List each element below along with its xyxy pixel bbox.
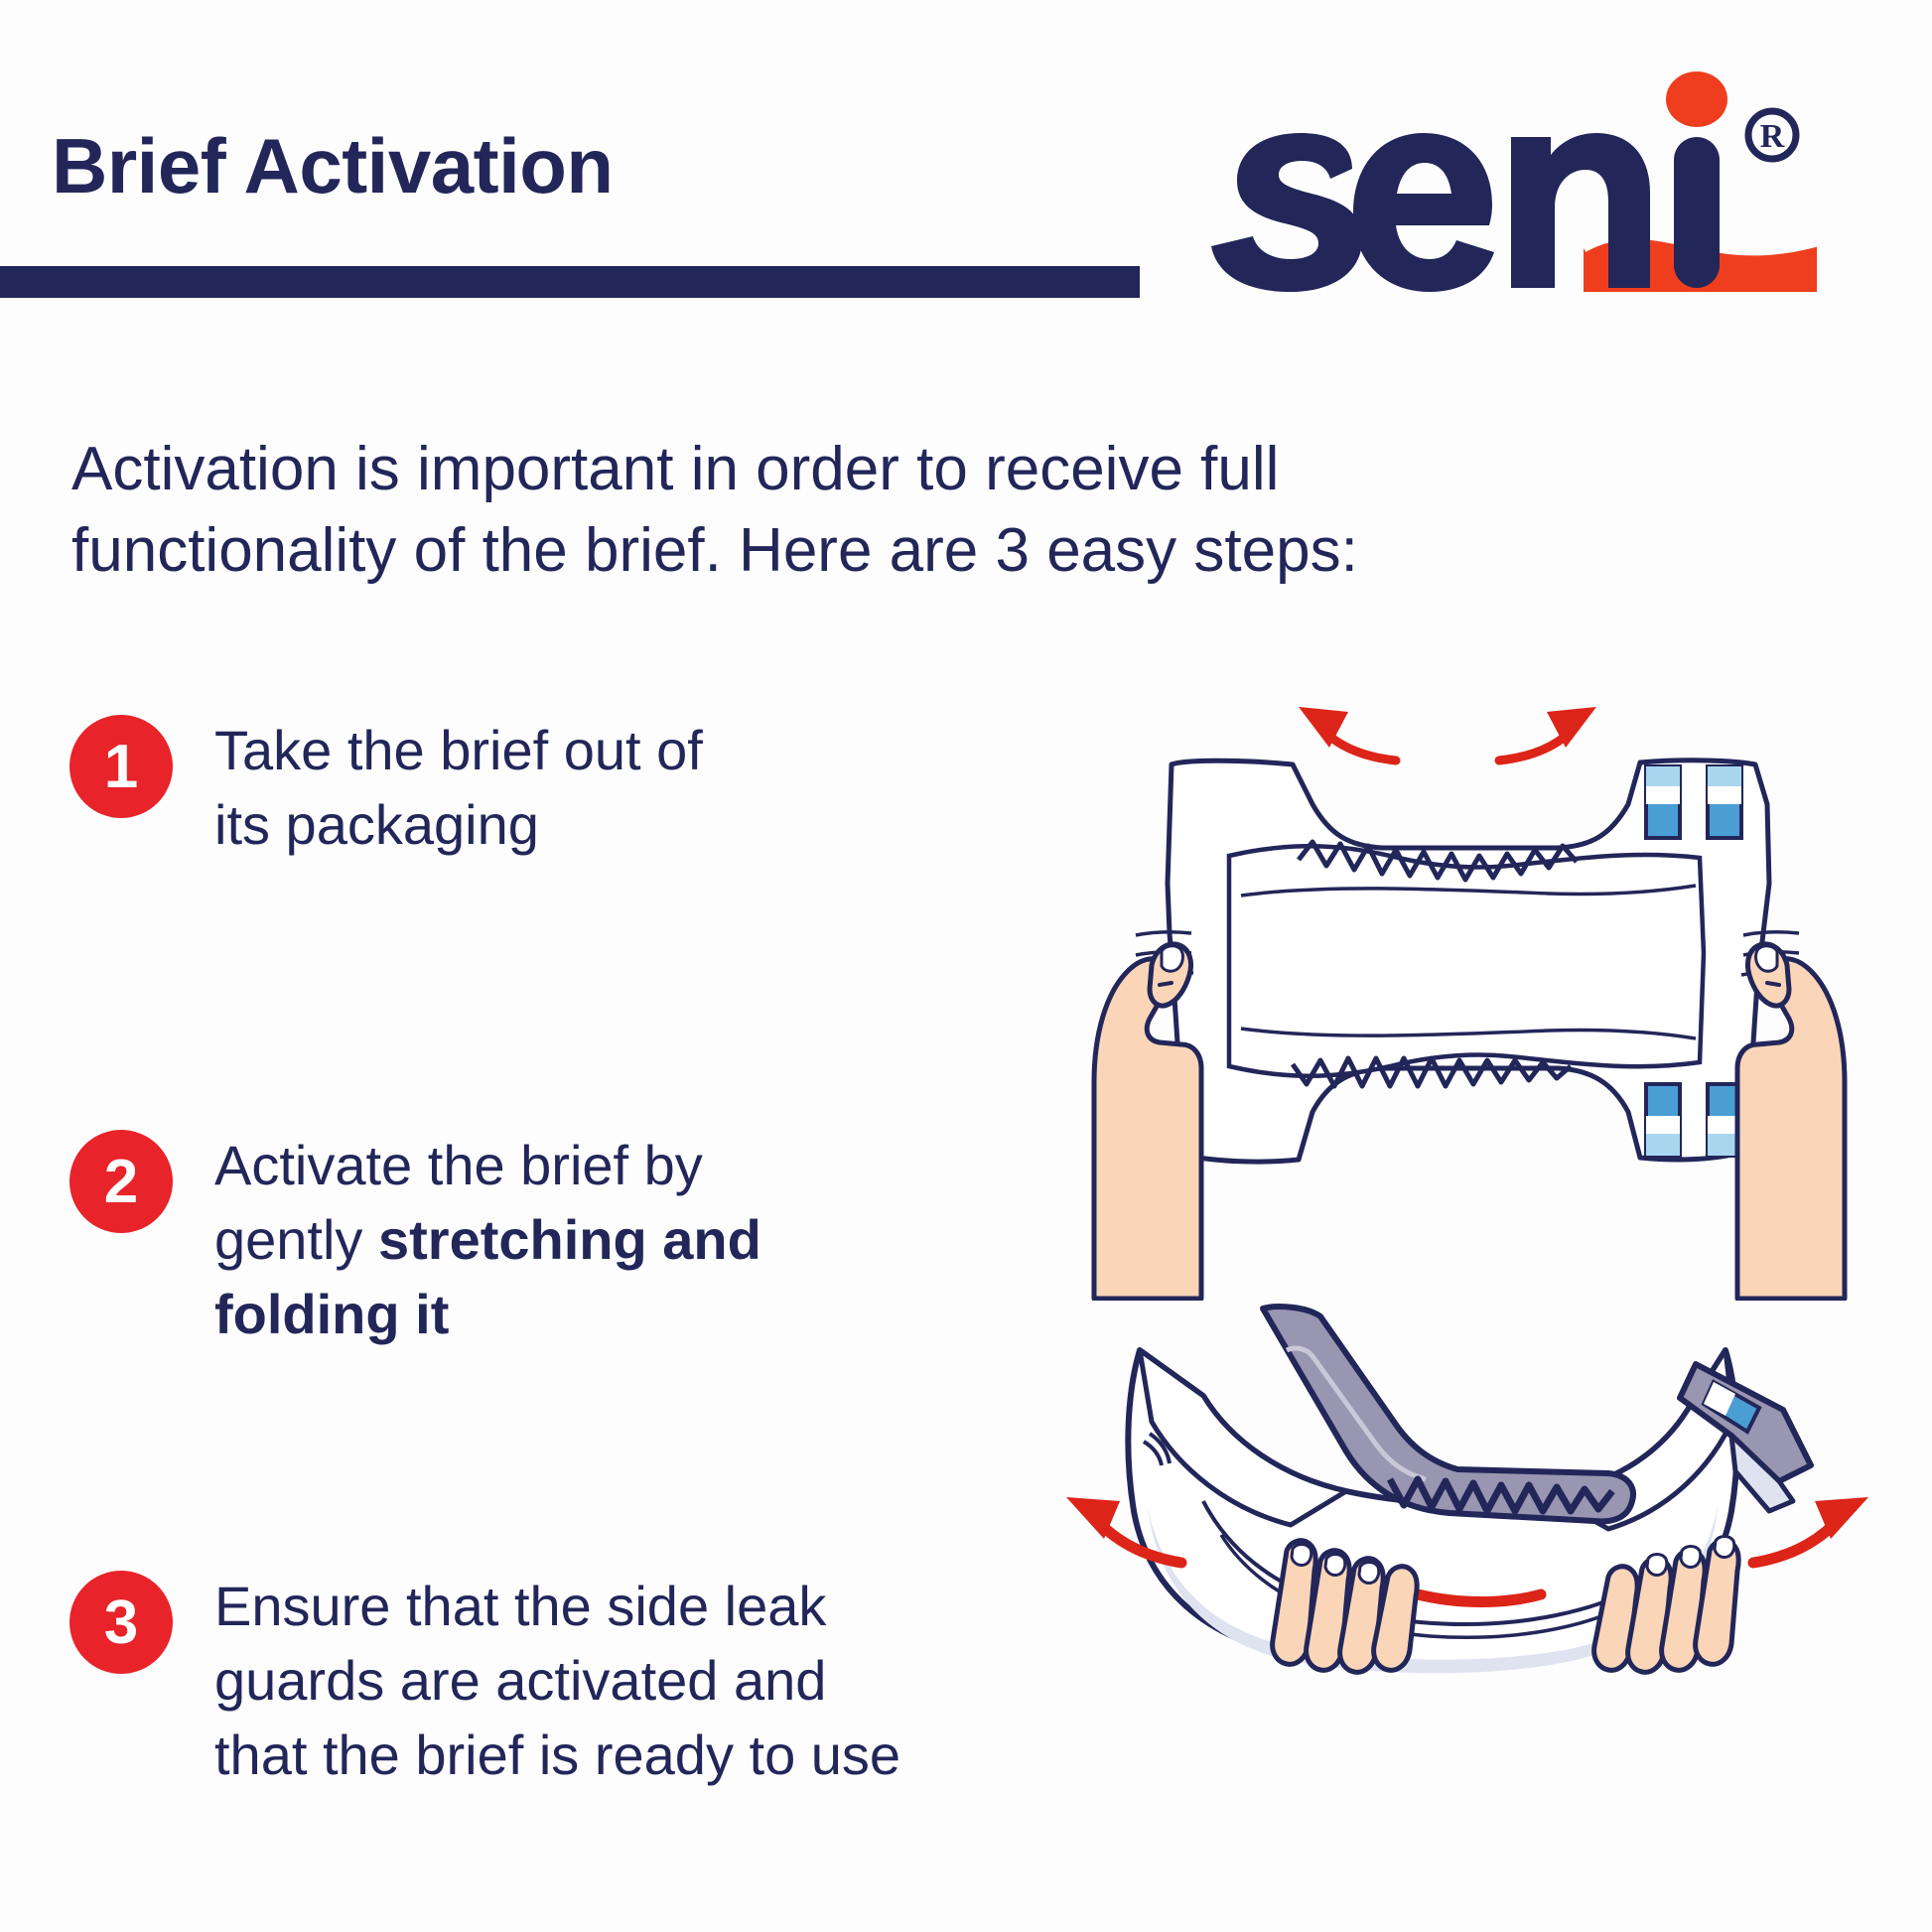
logo-letter-s: [1211, 133, 1362, 292]
seni-logo-mark: R: [1201, 71, 1847, 300]
step-number-badge-1: 1: [69, 715, 173, 818]
brief-fold-illustration: [993, 1291, 1926, 1827]
svg-text:R: R: [1760, 118, 1785, 155]
brief-stretch-illustration: [1033, 685, 1906, 1301]
page-header: Brief Activation R: [0, 0, 1932, 338]
logo-letter-i-dot: [1666, 71, 1727, 127]
fastening-tab-top-1: [1646, 766, 1680, 838]
stretch-arrow-left-icon: [1299, 707, 1396, 760]
step-item-3: 3 Ensure that the side leakguards are ac…: [69, 1563, 1023, 1792]
intro-paragraph: Activation is important in order to rece…: [71, 429, 1481, 592]
step-text-1: Take the brief out ofits packaging: [214, 707, 703, 862]
logo-letter-e: [1353, 133, 1494, 292]
step-number-badge-2: 2: [69, 1130, 173, 1233]
step-text-2: Activate the brief bygently stretching a…: [214, 1122, 761, 1351]
trademark-icon: R: [1748, 111, 1796, 159]
stretch-arrow-right-icon: [1499, 707, 1596, 760]
step-number-badge-3: 3: [69, 1571, 173, 1674]
title-underline-rule: [0, 266, 1140, 298]
logo-letter-i-stem: [1674, 137, 1720, 288]
seni-logo: R: [1201, 71, 1847, 300]
step-item-2: 2 Activate the brief bygently stretching…: [69, 1122, 1023, 1351]
step-text-3: Ensure that the side leakguards are acti…: [214, 1563, 900, 1792]
fastening-tab-top-2: [1708, 766, 1741, 838]
fastening-tab-bottom-1: [1646, 1084, 1680, 1156]
step-item-1: 1 Take the brief out ofits packaging: [69, 707, 1023, 862]
page-title: Brief Activation: [52, 127, 614, 205]
logo-letter-n: [1511, 133, 1650, 288]
